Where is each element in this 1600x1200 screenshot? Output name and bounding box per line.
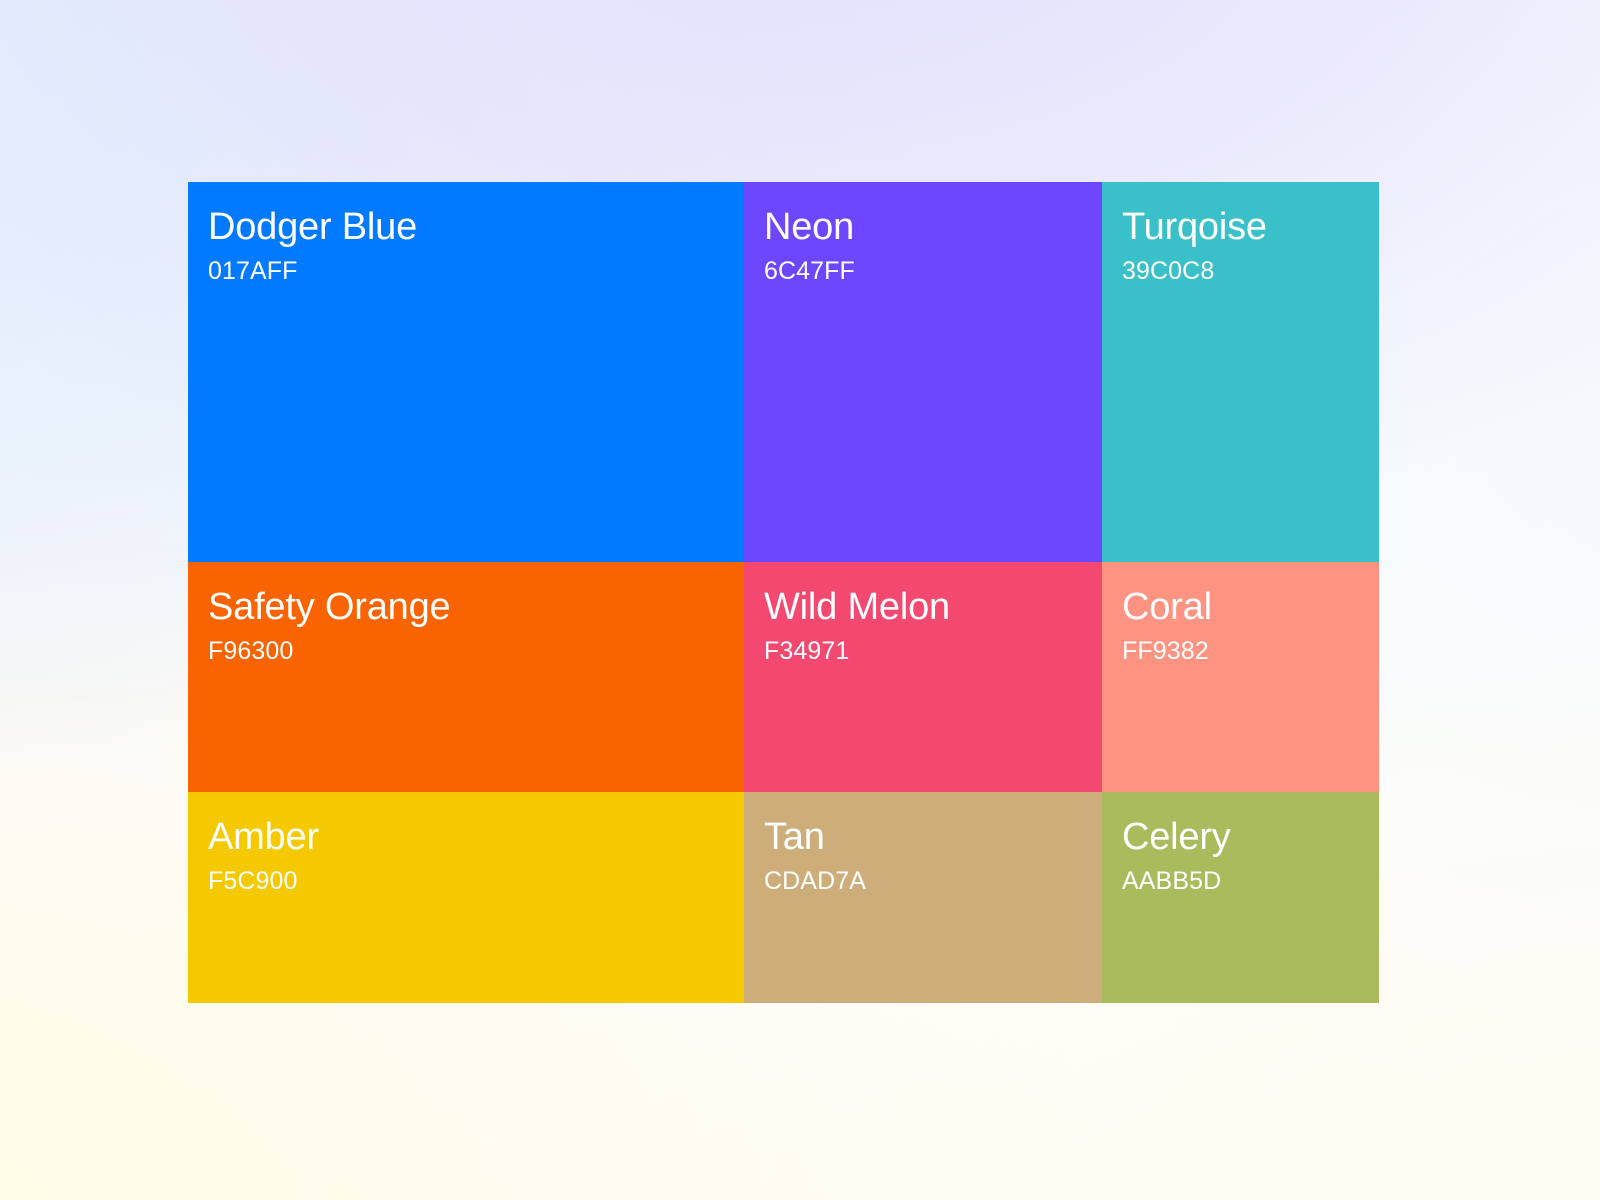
color-palette-grid: Dodger Blue 017AFF Neon 6C47FF Turqoise … — [188, 182, 1379, 1003]
swatch-hex-code: 39C0C8 — [1122, 255, 1379, 287]
swatch-name: Turqoise — [1122, 204, 1379, 250]
swatch-hex-code: CDAD7A — [764, 865, 1102, 897]
color-swatch-dodger-blue[interactable]: Dodger Blue 017AFF — [188, 182, 744, 562]
swatch-hex-code: AABB5D — [1122, 865, 1379, 897]
swatch-hex-code: 6C47FF — [764, 255, 1102, 287]
color-swatch-celery[interactable]: Celery AABB5D — [1102, 792, 1379, 1003]
color-swatch-tan[interactable]: Tan CDAD7A — [744, 792, 1102, 1003]
swatch-name: Neon — [764, 204, 1102, 250]
color-swatch-safety-orange[interactable]: Safety Orange F96300 — [188, 562, 744, 792]
color-swatch-turqoise[interactable]: Turqoise 39C0C8 — [1102, 182, 1379, 562]
swatch-name: Coral — [1122, 584, 1379, 630]
swatch-hex-code: F34971 — [764, 635, 1102, 667]
swatch-name: Wild Melon — [764, 584, 1102, 630]
swatch-hex-code: F96300 — [208, 635, 744, 667]
color-swatch-coral[interactable]: Coral FF9382 — [1102, 562, 1379, 792]
swatch-name: Safety Orange — [208, 584, 744, 630]
color-swatch-neon[interactable]: Neon 6C47FF — [744, 182, 1102, 562]
color-swatch-wild-melon[interactable]: Wild Melon F34971 — [744, 562, 1102, 792]
swatch-hex-code: FF9382 — [1122, 635, 1379, 667]
swatch-hex-code: F5C900 — [208, 865, 744, 897]
swatch-name: Amber — [208, 814, 744, 860]
swatch-name: Dodger Blue — [208, 204, 744, 250]
swatch-name: Tan — [764, 814, 1102, 860]
swatch-hex-code: 017AFF — [208, 255, 744, 287]
swatch-name: Celery — [1122, 814, 1379, 860]
color-swatch-amber[interactable]: Amber F5C900 — [188, 792, 744, 1003]
